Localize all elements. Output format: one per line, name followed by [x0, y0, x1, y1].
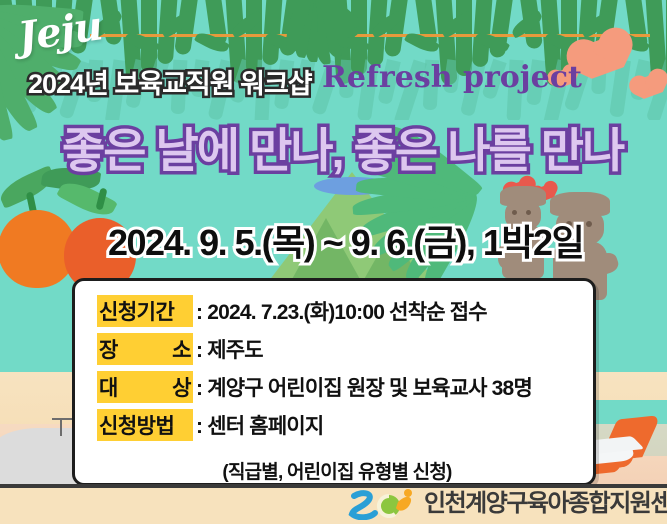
info-row-label: 신청방법 — [97, 409, 193, 441]
center-logo-icon — [348, 488, 422, 520]
info-row-value: : 2024. 7.23.(화)10:00 선착순 접수 — [196, 296, 487, 326]
info-row-label: 장 소 — [97, 333, 193, 365]
page-title: 좋은 날에 만나, 좋은 나를 만나 — [62, 112, 623, 181]
railing-post — [60, 418, 62, 436]
info-row-value: : 제주도 — [196, 334, 263, 364]
project-name: Refresh project — [322, 60, 582, 95]
info-row-list: 신청기간: 2024. 7.23.(화)10:00 선착순 접수장 소: 제주도… — [97, 295, 581, 447]
poster-kicker: 2024년 보육교직원 워크샵 — [28, 62, 312, 101]
info-row-label: 대 상 — [97, 371, 193, 403]
poster-canvas: /*generated*/ — [0, 0, 667, 524]
info-card: 신청기간: 2024. 7.23.(화)10:00 선착순 접수장 소: 제주도… — [72, 278, 596, 486]
info-row: 신청기간: 2024. 7.23.(화)10:00 선착순 접수 — [97, 295, 581, 327]
info-row-value: : 계양구 어린이집 원장 및 보육교사 38명 — [196, 372, 532, 402]
info-row: 신청방법: 센터 홈페이지 — [97, 409, 581, 441]
info-row-value: : 센터 홈페이지 — [196, 410, 323, 440]
info-row-label: 신청기간 — [97, 295, 193, 327]
organization-name: 인천계양구육아종합지원센터 — [424, 483, 667, 518]
info-row: 장 소: 제주도 — [97, 333, 581, 365]
event-dateline: 2024. 9. 5.(목) ~ 9. 6.(금), 1박2일 — [108, 214, 583, 266]
info-row: 대 상: 계양구 어린이집 원장 및 보육교사 38명 — [97, 371, 581, 403]
info-note: (직급별, 어린이집 유형별 신청) — [75, 457, 599, 484]
